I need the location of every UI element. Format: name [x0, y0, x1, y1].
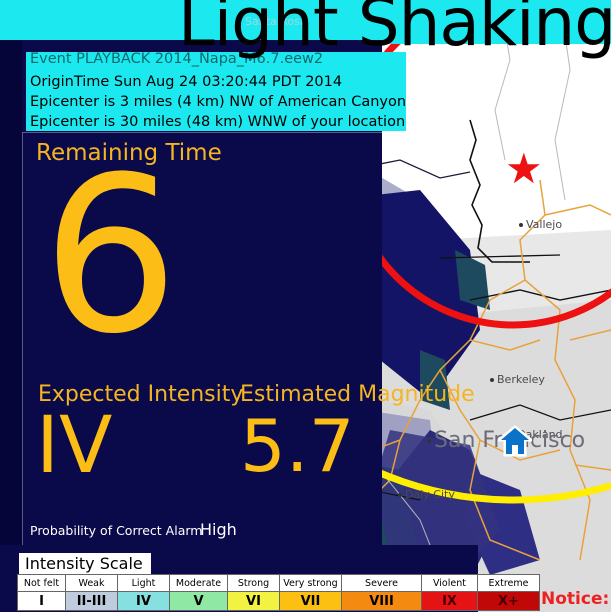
intensity-level-name: Not felt	[18, 575, 66, 592]
expected-intensity-value: IV	[36, 405, 112, 487]
city-label-vallejo: Vallejo	[519, 218, 562, 231]
city-dot-icon	[427, 439, 431, 443]
intensity-scale-title: Intensity Scale	[19, 553, 151, 576]
intensity-level-roman: VII	[280, 592, 342, 611]
page-title: Light Shaking	[178, 0, 611, 56]
probability-value: High	[200, 520, 237, 539]
intensity-level-roman: I	[18, 592, 66, 611]
intensity-level-name: Severe	[342, 575, 422, 592]
remaining-time-value: 6	[42, 148, 179, 363]
intensity-level-name: Moderate	[170, 575, 228, 592]
event-info-line-origin: OriginTime Sun Aug 24 03:20:44 PDT 2014	[30, 72, 406, 92]
event-info-box: Event PLAYBACK 2014_Napa_M6.7.eew2 Origi…	[26, 52, 406, 131]
earthquake-early-warning-app: Santa Rosa Vallejo Berkeley Oakland San …	[0, 0, 611, 612]
estimated-magnitude-value: 5.7	[240, 405, 355, 487]
notice-text: Notice: Earth	[541, 589, 611, 609]
intensity-level-name: Very strong	[280, 575, 342, 592]
probability-label: Probability of Correct Alarm	[30, 523, 202, 538]
intensity-level-name: Light	[118, 575, 170, 592]
intensity-level-roman: II-III	[66, 592, 118, 611]
city-label-berkeley: Berkeley	[490, 373, 545, 386]
intensity-level-roman: IX	[422, 592, 478, 611]
home-icon[interactable]	[498, 425, 532, 461]
intensity-scale-table: Not feltWeakLightModerateStrongVery stro…	[17, 574, 540, 611]
city-dot-icon	[519, 223, 523, 227]
intensity-scale-romans-row: III-IIIIVVVIVIIVIIIIXX+	[18, 592, 540, 611]
city-dot-icon	[490, 378, 494, 382]
intensity-level-roman: VIII	[342, 592, 422, 611]
intensity-level-roman: V	[170, 592, 228, 611]
event-info-line-epicenter-user: Epicenter is 30 miles (48 km) WNW of you…	[30, 112, 406, 132]
intensity-level-roman: X+	[478, 592, 540, 611]
intensity-level-roman: IV	[118, 592, 170, 611]
intensity-level-name: Weak	[66, 575, 118, 592]
city-label-daly-city: Daly City	[398, 488, 455, 501]
city-dot-icon	[398, 493, 402, 497]
intensity-level-name: Strong	[228, 575, 280, 592]
alert-panel-edge	[0, 40, 22, 545]
event-info-line-epicenter-city: Epicenter is 3 miles (4 km) NW of Americ…	[30, 92, 406, 112]
intensity-level-roman: VI	[228, 592, 280, 611]
intensity-level-name: Violent	[422, 575, 478, 592]
epicenter-star-icon: ★	[505, 148, 543, 190]
intensity-level-name: Extreme	[478, 575, 540, 592]
intensity-scale-names-row: Not feltWeakLightModerateStrongVery stro…	[18, 575, 540, 592]
